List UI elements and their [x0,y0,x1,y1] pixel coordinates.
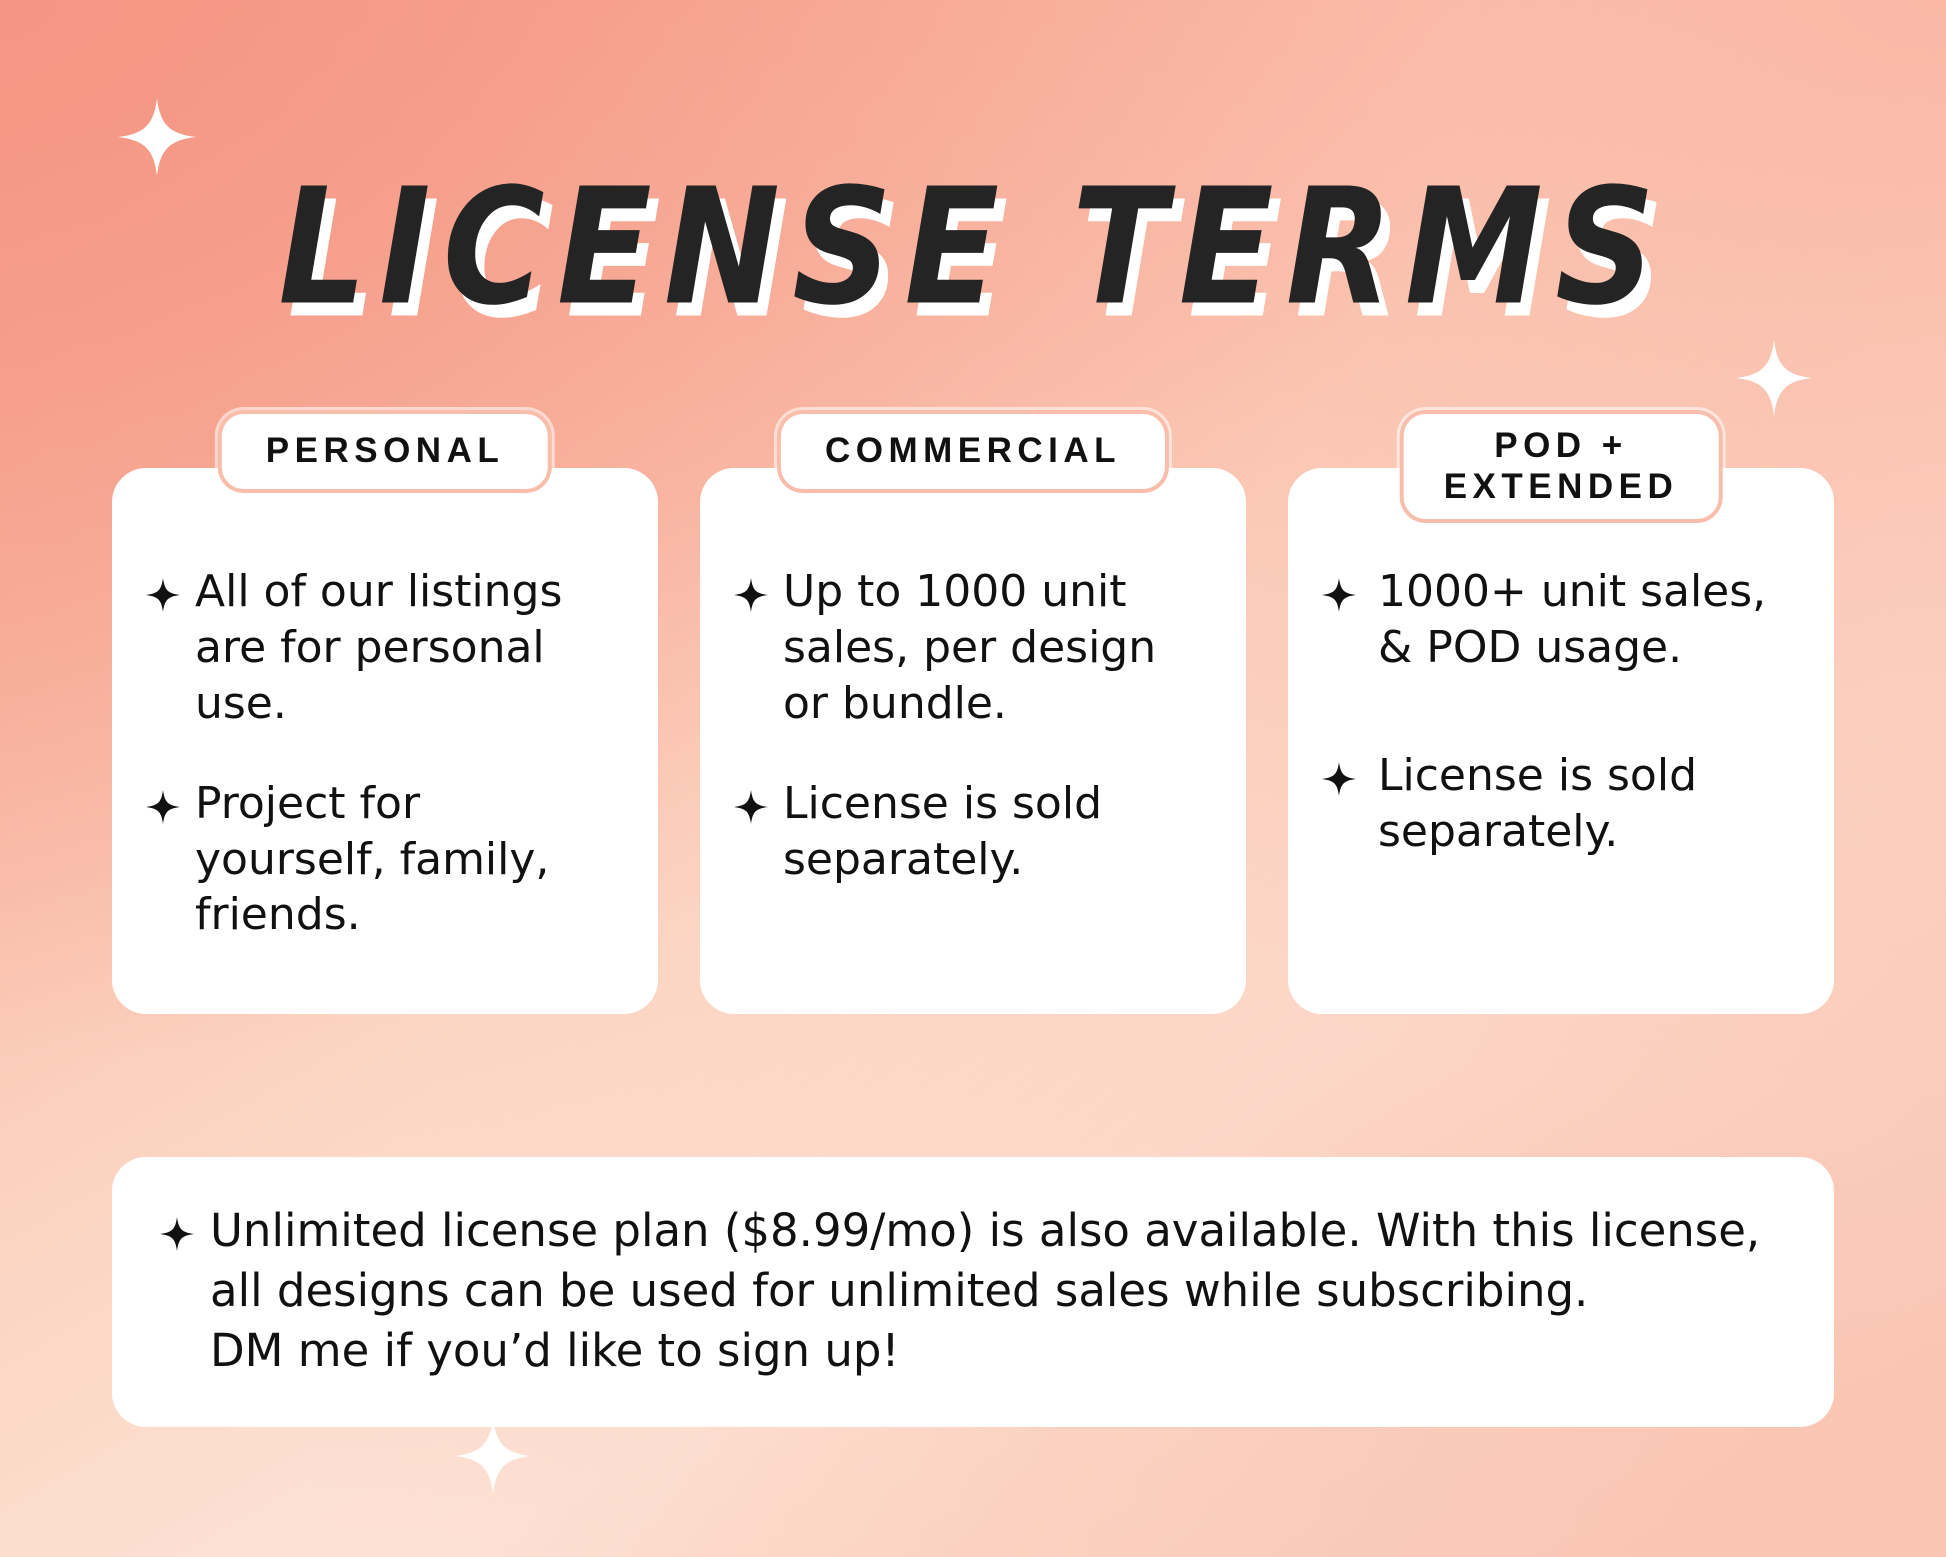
license-tier-commercial: COMMERCIAL Up to 1000 unit sales, per de… [700,468,1246,1014]
tier-bullet-text: License is sold separately. [1378,748,1800,860]
tier-tab-commercial[interactable]: COMMERCIAL [777,410,1169,493]
list-item: Up to 1000 unit sales, per design or bun… [734,564,1212,732]
sparkle-bullet-icon [146,790,180,824]
tier-bullet-text: License is sold separately. [783,776,1212,888]
list-item: License is sold separately. [734,776,1212,888]
unlimited-plan-banner: Unlimited license plan ($8.99/mo) is als… [112,1157,1834,1427]
sparkle-bullet-icon [734,578,768,612]
banner-line-2: all designs can be used for unlimited sa… [210,1261,1760,1321]
tier-bullet-text: Up to 1000 unit sales, per design or bun… [783,564,1212,732]
tier-bullet-list-pod-extended: 1000+ unit sales, & POD usage. License i… [1322,564,1800,860]
license-tier-pod-extended: POD + EXTENDED 1000+ unit sales, & POD u… [1288,468,1834,1014]
sparkle-bullet-icon [1322,578,1356,612]
tier-tab-label-pod-extended-line2: EXTENDED [1444,467,1679,508]
sparkle-icon-top-right [1736,340,1812,416]
tier-tab-label-personal: PERSONAL [266,431,504,472]
tier-bullet-text: All of our listings are for personal use… [195,564,624,732]
tier-bullet-list-commercial: Up to 1000 unit sales, per design or bun… [734,564,1212,887]
license-tier-personal: PERSONAL All of our listings are for per… [112,468,658,1014]
license-tier-row: PERSONAL All of our listings are for per… [112,468,1834,1014]
tier-bullet-text: 1000+ unit sales, & POD usage. [1378,564,1800,676]
tier-tab-personal[interactable]: PERSONAL [218,410,552,493]
tier-card-commercial: Up to 1000 unit sales, per design or bun… [700,468,1246,1014]
list-item: 1000+ unit sales, & POD usage. [1322,564,1800,676]
tier-bullet-text: Project for yourself, family, friends. [195,776,624,944]
sparkle-icon-bottom-left [455,1418,531,1494]
tier-bullet-list-personal: All of our listings are for personal use… [146,564,624,943]
sparkle-bullet-icon [734,790,768,824]
tier-card-personal: All of our listings are for personal use… [112,468,658,1014]
license-terms-poster: LICENSE TERMS PERSONAL All of our listin… [0,0,1946,1557]
sparkle-icon-top-left [118,98,196,176]
tier-tab-label-pod-extended-line1: POD + [1444,426,1679,467]
list-item: Project for yourself, family, friends. [146,776,624,944]
sparkle-bullet-icon [160,1217,194,1251]
page-title: LICENSE TERMS [0,168,1946,304]
banner-line-1: Unlimited license plan ($8.99/mo) is als… [210,1201,1760,1261]
tier-tab-pod-extended[interactable]: POD + EXTENDED [1400,410,1723,523]
list-item: License is sold separately. [1322,748,1800,860]
list-item: All of our listings are for personal use… [146,564,624,732]
unlimited-plan-text: Unlimited license plan ($8.99/mo) is als… [210,1201,1760,1381]
banner-line-3: DM me if you’d like to sign up! [210,1321,1760,1381]
page-title-text: LICENSE TERMS [279,168,1668,328]
tier-card-pod-extended: 1000+ unit sales, & POD usage. License i… [1288,468,1834,1014]
tier-tab-label-commercial: COMMERCIAL [825,431,1121,472]
sparkle-bullet-icon [1322,762,1356,796]
sparkle-bullet-icon [146,578,180,612]
